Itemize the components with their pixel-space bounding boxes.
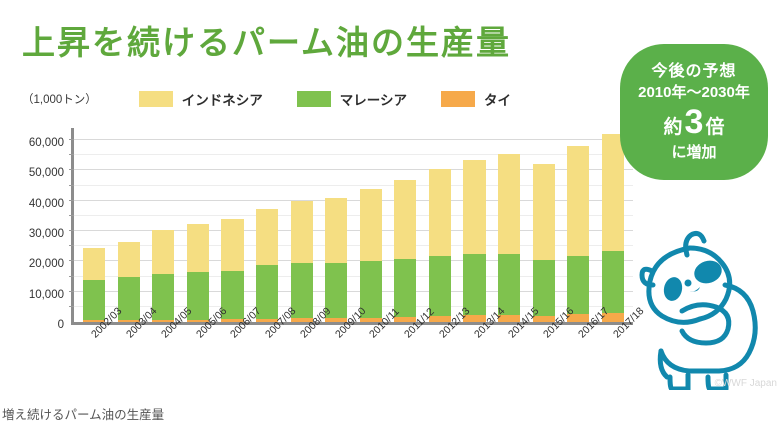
x-axis-tick: 2017/18 bbox=[595, 328, 630, 388]
bar-column[interactable] bbox=[250, 128, 285, 322]
bar-stack bbox=[187, 224, 209, 322]
bar-segment-マレーシア bbox=[498, 254, 520, 316]
bar-segment-インドネシア bbox=[394, 180, 416, 259]
bar-segment-インドネシア bbox=[221, 219, 243, 271]
chart-legend: （1,000トン） インドネシア マレーシア タイ bbox=[22, 89, 545, 109]
bar-column[interactable] bbox=[284, 128, 319, 322]
bar-column[interactable] bbox=[215, 128, 250, 322]
bar-segment-インドネシア bbox=[533, 164, 555, 261]
bar-segment-インドネシア bbox=[291, 201, 313, 263]
x-axis-tick: 2013/14 bbox=[456, 328, 491, 388]
bar-segment-インドネシア bbox=[498, 154, 520, 254]
y-axis-tick-label: 20,000 bbox=[29, 258, 64, 270]
figure-caption: 増え続けるパーム油の生産量 bbox=[2, 404, 164, 423]
legend-item-thailand: タイ bbox=[441, 89, 511, 109]
badge-suffix: 倍 bbox=[705, 117, 724, 139]
bar-stack bbox=[221, 219, 243, 322]
bar-segment-インドネシア bbox=[325, 198, 347, 262]
x-axis-tick: 2014/15 bbox=[491, 328, 526, 388]
bar-stack bbox=[291, 201, 313, 322]
x-axis-tick: 2008/09 bbox=[283, 328, 318, 388]
x-axis-tick: 2006/07 bbox=[213, 328, 248, 388]
bar-segment-マレーシア bbox=[602, 251, 624, 313]
bar-column[interactable] bbox=[319, 128, 354, 322]
x-axis-labels: 2002/032003/042004/052005/062006/072007/… bbox=[71, 328, 633, 388]
bar-segment-マレーシア bbox=[463, 254, 485, 315]
x-axis-tick: 2015/16 bbox=[526, 328, 561, 388]
bar-stack bbox=[463, 160, 485, 322]
chart-axes bbox=[71, 128, 633, 325]
bar-segment-マレーシア bbox=[429, 256, 451, 316]
badge-prefix: 約 bbox=[664, 117, 683, 139]
bar-column[interactable] bbox=[561, 128, 596, 322]
x-axis-tick: 2002/03 bbox=[74, 328, 109, 388]
x-axis-tick: 2004/05 bbox=[144, 328, 179, 388]
bar-column[interactable] bbox=[77, 128, 112, 322]
bar-column[interactable] bbox=[354, 128, 389, 322]
legend-item-indonesia: インドネシア bbox=[139, 89, 263, 109]
y-axis-tick-label: 10,000 bbox=[29, 289, 64, 301]
page-title: 上昇を続けるパーム油の生産量 bbox=[22, 16, 511, 64]
bar-segment-インドネシア bbox=[429, 169, 451, 256]
bar-segment-インドネシア bbox=[83, 248, 105, 280]
bar-column[interactable] bbox=[526, 128, 561, 322]
badge-multiplier: 約 3 倍 bbox=[664, 105, 725, 139]
bar-column[interactable] bbox=[423, 128, 458, 322]
unit-label: （1,000トン） bbox=[22, 91, 97, 107]
x-axis-tick: 2016/17 bbox=[561, 328, 596, 388]
bar-segment-インドネシア bbox=[187, 224, 209, 272]
bar-stack bbox=[360, 189, 382, 322]
legend-item-malaysia: マレーシア bbox=[297, 89, 407, 109]
bar-segment-インドネシア bbox=[118, 242, 140, 278]
x-axis-tick: 2009/10 bbox=[317, 328, 352, 388]
x-axis-tick: 2012/13 bbox=[422, 328, 457, 388]
y-axis-tick-label: 0 bbox=[58, 319, 64, 331]
x-axis-tick: 2007/08 bbox=[248, 328, 283, 388]
y-axis-tick-label: 30,000 bbox=[29, 228, 64, 240]
bar-column[interactable] bbox=[492, 128, 527, 322]
bar-stack bbox=[325, 198, 347, 322]
legend-label-malaysia: マレーシア bbox=[340, 89, 407, 109]
bar-stack bbox=[394, 180, 416, 322]
bar-column[interactable] bbox=[181, 128, 216, 322]
infographic-root: 上昇を続けるパーム油の生産量 （1,000トン） インドネシア マレーシア タイ… bbox=[0, 0, 781, 433]
bar-stack bbox=[498, 154, 520, 322]
bar-stack bbox=[83, 248, 105, 322]
y-axis-tick-label: 40,000 bbox=[29, 198, 64, 210]
legend-label-thailand: タイ bbox=[484, 89, 511, 109]
bar-stack bbox=[429, 169, 451, 322]
bar-column[interactable] bbox=[457, 128, 492, 322]
forecast-badge: 今後の予想 2010年〜2030年 約 3 倍 に増加 bbox=[620, 44, 768, 180]
legend-swatch-thailand bbox=[441, 91, 475, 107]
chart-bars bbox=[74, 128, 633, 322]
bar-segment-インドネシア bbox=[567, 146, 589, 256]
badge-number: 3 bbox=[685, 105, 704, 139]
bar-stack bbox=[152, 230, 174, 322]
legend-swatch-indonesia bbox=[139, 91, 173, 107]
bar-stack bbox=[256, 209, 278, 322]
panda-mascot-icon bbox=[630, 215, 775, 390]
bar-segment-インドネシア bbox=[463, 160, 485, 255]
badge-line-2: 2010年〜2030年 bbox=[638, 84, 750, 101]
legend-swatch-malaysia bbox=[297, 91, 331, 107]
x-axis-tick: 2003/04 bbox=[109, 328, 144, 388]
y-axis-tick-label: 50,000 bbox=[29, 167, 64, 179]
chart-plot-area: 010,00020,00030,00040,00050,00060,000 20… bbox=[0, 128, 640, 333]
bar-segment-インドネシア bbox=[152, 230, 174, 274]
y-axis-labels: 010,00020,00030,00040,00050,00060,000 bbox=[0, 128, 68, 325]
bar-segment-マレーシア bbox=[567, 256, 589, 314]
x-axis-tick: 2011/12 bbox=[387, 328, 422, 388]
x-axis-tick: 2010/11 bbox=[352, 328, 387, 388]
bar-segment-インドネシア bbox=[256, 209, 278, 265]
bar-segment-インドネシア bbox=[360, 189, 382, 261]
bar-segment-マレーシア bbox=[83, 280, 105, 321]
y-axis-tick-label: 60,000 bbox=[29, 137, 64, 149]
bar-column[interactable] bbox=[112, 128, 147, 322]
bar-stack bbox=[567, 146, 589, 322]
watermark-text: ©WWF Japan bbox=[715, 378, 777, 389]
bar-stack bbox=[602, 134, 624, 322]
bar-column[interactable] bbox=[388, 128, 423, 322]
bar-stack bbox=[533, 164, 555, 323]
badge-line-1: 今後の予想 bbox=[651, 63, 736, 81]
x-axis-tick: 2005/06 bbox=[178, 328, 213, 388]
badge-line-4: に増加 bbox=[671, 144, 716, 161]
bar-segment-マレーシア bbox=[394, 259, 416, 317]
bar-segment-インドネシア bbox=[602, 134, 624, 251]
legend-label-indonesia: インドネシア bbox=[182, 89, 263, 109]
bar-column[interactable] bbox=[146, 128, 181, 322]
